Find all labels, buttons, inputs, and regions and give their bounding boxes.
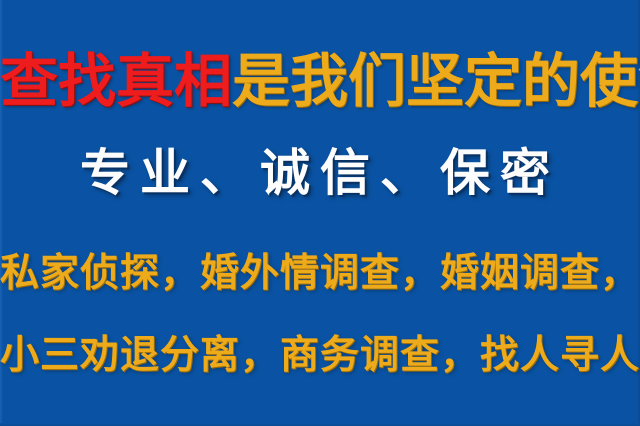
headline: 查找真相是我们坚定的使命 [0,47,640,115]
advertisement-banner: 查找真相是我们坚定的使命 专业、诚信、保密 私家侦探，婚外情调查，婚姻调查， 小… [0,0,640,426]
company-values-line: 专业、诚信、保密 [0,143,640,203]
services-line-2: 小三劝退分离，商务调查，找人寻人 [0,329,640,383]
headline-remainder: 是我们坚定的使命 [232,47,640,115]
services-line-1: 私家侦探，婚外情调查，婚姻调查， [0,247,640,301]
headline-emphasis: 查找真相 [0,47,232,115]
